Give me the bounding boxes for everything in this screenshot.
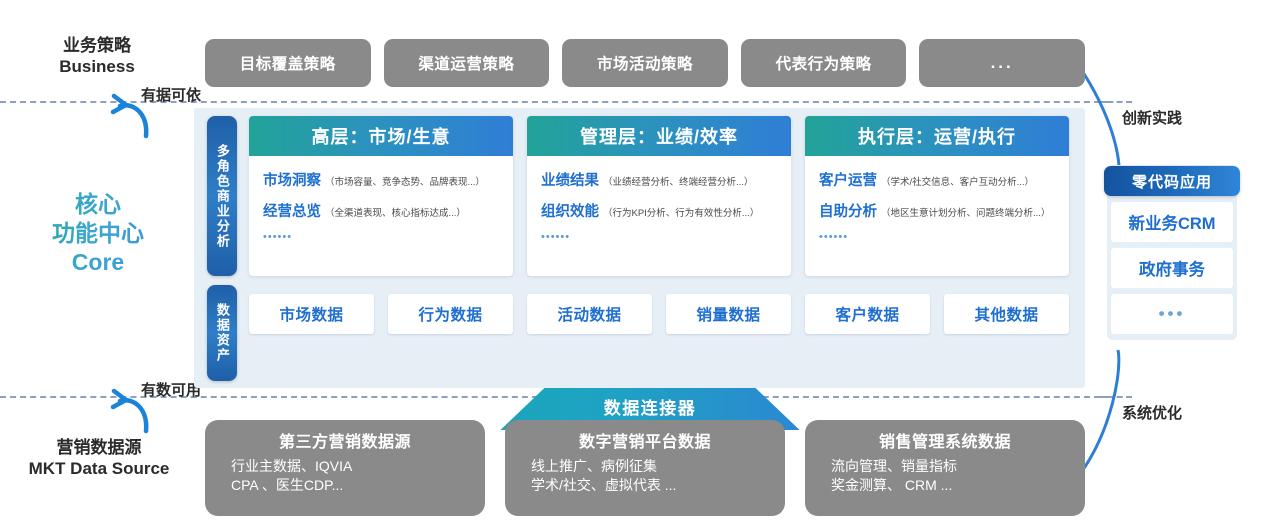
panel-management-line-1-sub: （行为KPI分析、行为有效性分析...） bbox=[603, 208, 759, 219]
source-box-third-party-sub-line2: CPA 、医生CDP... bbox=[231, 476, 475, 495]
panel-management-line-1-title: 组织效能 bbox=[541, 204, 599, 220]
panel-management-line-1[interactable]: 组织效能（行为KPI分析、行为有效性分析...） bbox=[541, 200, 779, 221]
vertical-tab-assets-label: 数据资产 bbox=[215, 303, 229, 363]
panel-execution-line-1-title: 自助分析 bbox=[819, 204, 877, 220]
panel-executive-header: 高层：市场/生意 bbox=[249, 116, 513, 156]
zero-code-panel-header: 零代码应用 bbox=[1104, 166, 1240, 196]
asset-box-0[interactable]: 市场数据 bbox=[249, 294, 374, 334]
annotation-bottom-arrow-text: 有数可用 bbox=[141, 379, 201, 400]
panel-execution-line-0-title: 客户运营 bbox=[819, 173, 877, 189]
strategy-box-1[interactable]: 渠道运营策略 bbox=[384, 39, 550, 87]
panel-executive-line-1-sub: （全渠道表现、核心指标达成...） bbox=[325, 208, 466, 219]
panel-executive-line-0-title: 市场洞察 bbox=[263, 173, 321, 189]
vertical-tab-roles-label: 多角色商业分析 bbox=[215, 144, 229, 249]
source-box-sales-management-title: 销售管理系统数据 bbox=[815, 428, 1075, 452]
strategy-box-more[interactable]: ... bbox=[919, 39, 1085, 87]
source-box-digital-marketing-title: 数字营销平台数据 bbox=[515, 428, 775, 452]
rail-label-core: 核心 功能中心 Core bbox=[18, 190, 178, 276]
rail-label-mkt-data-source: 营销数据源 MKT Data Source bbox=[8, 438, 190, 479]
panel-executive-line-0[interactable]: 市场洞察（市场容量、竞争态势、品牌表现...） bbox=[263, 169, 501, 190]
panel-execution-line-1[interactable]: 自助分析（地区生意计划分析、问题终端分析...） bbox=[819, 200, 1057, 221]
asset-box-3[interactable]: 销量数据 bbox=[666, 294, 791, 334]
panel-executive-dots: •••••• bbox=[263, 231, 501, 243]
rail-label-business-en: Business bbox=[22, 57, 172, 78]
panel-management-line-0[interactable]: 业绩结果（业绩经营分析、终端经营分析...） bbox=[541, 169, 779, 190]
annotation-top-arrow-text: 有据可依 bbox=[141, 84, 201, 105]
strategy-box-0[interactable]: 目标覆盖策略 bbox=[205, 39, 371, 87]
panel-management-header: 管理层：业绩/效率 bbox=[527, 116, 791, 156]
panel-management-body: 业绩结果（业绩经营分析、终端经营分析...） 组织效能（行为KPI分析、行为有效… bbox=[527, 156, 791, 276]
rail-label-business-cn: 业务策略 bbox=[22, 36, 172, 57]
vertical-tab-data-assets[interactable]: 数据资产 bbox=[207, 285, 237, 381]
source-box-third-party-sub-line1: 行业主数据、IQVIA bbox=[231, 457, 475, 476]
source-box-sales-management-sub-line1: 流向管理、销量指标 bbox=[831, 457, 1075, 476]
data-connector-label: 数据连接器 bbox=[430, 394, 870, 419]
panel-execution-line-0[interactable]: 客户运营（学术/社交信息、客户互动分析...） bbox=[819, 169, 1057, 190]
data-sources-row: 第三方营销数据源 行业主数据、IQVIA CPA 、医生CDP... 数字营销平… bbox=[205, 420, 1085, 516]
vertical-tab-multi-role-analysis[interactable]: 多角色商业分析 bbox=[207, 116, 237, 276]
rail-label-core-cn2: 功能中心 bbox=[18, 219, 178, 248]
panel-management-line-0-sub: （业绩经营分析、终端经营分析...） bbox=[603, 177, 753, 188]
asset-box-5[interactable]: 其他数据 bbox=[944, 294, 1069, 334]
rail-label-core-en: Core bbox=[18, 248, 178, 277]
source-box-digital-marketing-sub-line1: 线上推广、病例征集 bbox=[531, 457, 775, 476]
source-box-third-party-title: 第三方营销数据源 bbox=[215, 428, 475, 452]
panel-execution-dots: •••••• bbox=[819, 231, 1057, 243]
sidebar-item-new-business-crm[interactable]: 新业务CRM bbox=[1111, 202, 1233, 242]
rail-label-core-cn1: 核心 bbox=[18, 190, 178, 219]
source-box-digital-marketing-sub: 线上推广、病例征集 学术/社交、虚拟代表 ... bbox=[515, 457, 775, 496]
source-box-sales-management-sub-line2: 奖金测算、 CRM ... bbox=[831, 476, 1075, 495]
source-box-digital-marketing-sub-line2: 学术/社交、虚拟代表 ... bbox=[531, 476, 775, 495]
asset-box-2[interactable]: 活动数据 bbox=[527, 294, 652, 334]
rail-label-business: 业务策略 Business bbox=[22, 36, 172, 77]
core-function-center: 多角色商业分析 数据资产 高层：市场/生意 市场洞察（市场容量、竞争态势、品牌表… bbox=[194, 108, 1085, 388]
panel-executive-body: 市场洞察（市场容量、竞争态势、品牌表现...） 经营总览（全渠道表现、核心指标达… bbox=[249, 156, 513, 276]
panel-executive-line-0-sub: （市场容量、竞争态势、品牌表现...） bbox=[325, 177, 485, 188]
source-box-third-party[interactable]: 第三方营销数据源 行业主数据、IQVIA CPA 、医生CDP... bbox=[205, 420, 485, 516]
source-box-sales-management-sub: 流向管理、销量指标 奖金测算、 CRM ... bbox=[815, 457, 1075, 496]
panel-executive-line-1-title: 经营总览 bbox=[263, 204, 321, 220]
asset-box-4[interactable]: 客户数据 bbox=[805, 294, 930, 334]
strategy-box-3[interactable]: 代表行为策略 bbox=[741, 39, 907, 87]
panel-executive-line-1[interactable]: 经营总览（全渠道表现、核心指标达成...） bbox=[263, 200, 501, 221]
diagram-canvas: 业务策略 Business 核心 功能中心 Core 营销数据源 MKT Dat… bbox=[0, 0, 1269, 532]
panel-management: 管理层：业绩/效率 业绩结果（业绩经营分析、终端经营分析...） 组织效能（行为… bbox=[527, 116, 791, 276]
panel-management-dots: •••••• bbox=[541, 231, 779, 243]
panel-management-line-0-title: 业绩结果 bbox=[541, 173, 599, 189]
panel-execution: 执行层：运营/执行 客户运营（学术/社交信息、客户互动分析...） 自助分析（地… bbox=[805, 116, 1069, 276]
source-box-digital-marketing[interactable]: 数字营销平台数据 线上推广、病例征集 学术/社交、虚拟代表 ... bbox=[505, 420, 785, 516]
annotation-innovation-practice: 创新实践 bbox=[1122, 107, 1182, 128]
source-box-sales-management[interactable]: 销售管理系统数据 流向管理、销量指标 奖金测算、 CRM ... bbox=[805, 420, 1085, 516]
source-box-third-party-sub: 行业主数据、IQVIA CPA 、医生CDP... bbox=[215, 457, 475, 496]
asset-box-1[interactable]: 行为数据 bbox=[388, 294, 513, 334]
panel-execution-header: 执行层：运营/执行 bbox=[805, 116, 1069, 156]
panel-execution-line-0-sub: （学术/社交信息、客户互动分析...） bbox=[881, 177, 1034, 188]
rail-label-mkt-en: MKT Data Source bbox=[8, 459, 190, 480]
data-assets-row: 市场数据 行为数据 活动数据 销量数据 客户数据 其他数据 bbox=[249, 294, 1069, 334]
panel-execution-line-1-sub: （地区生意计划分析、问题终端分析...） bbox=[881, 208, 1050, 219]
sidebar-item-more[interactable]: ••• bbox=[1111, 294, 1233, 334]
rail-label-mkt-cn: 营销数据源 bbox=[8, 438, 190, 459]
analysis-panels: 高层：市场/生意 市场洞察（市场容量、竞争态势、品牌表现...） 经营总览（全渠… bbox=[249, 116, 1069, 276]
strategy-box-2[interactable]: 市场活动策略 bbox=[562, 39, 728, 87]
sidebar-item-government-affairs[interactable]: 政府事务 bbox=[1111, 248, 1233, 288]
strategy-row: 目标覆盖策略 渠道运营策略 市场活动策略 代表行为策略 ... bbox=[205, 39, 1085, 87]
panel-executive: 高层：市场/生意 市场洞察（市场容量、竞争态势、品牌表现...） 经营总览（全渠… bbox=[249, 116, 513, 276]
annotation-system-optimization: 系统优化 bbox=[1122, 402, 1182, 423]
panel-execution-body: 客户运营（学术/社交信息、客户互动分析...） 自助分析（地区生意计划分析、问题… bbox=[805, 156, 1069, 276]
